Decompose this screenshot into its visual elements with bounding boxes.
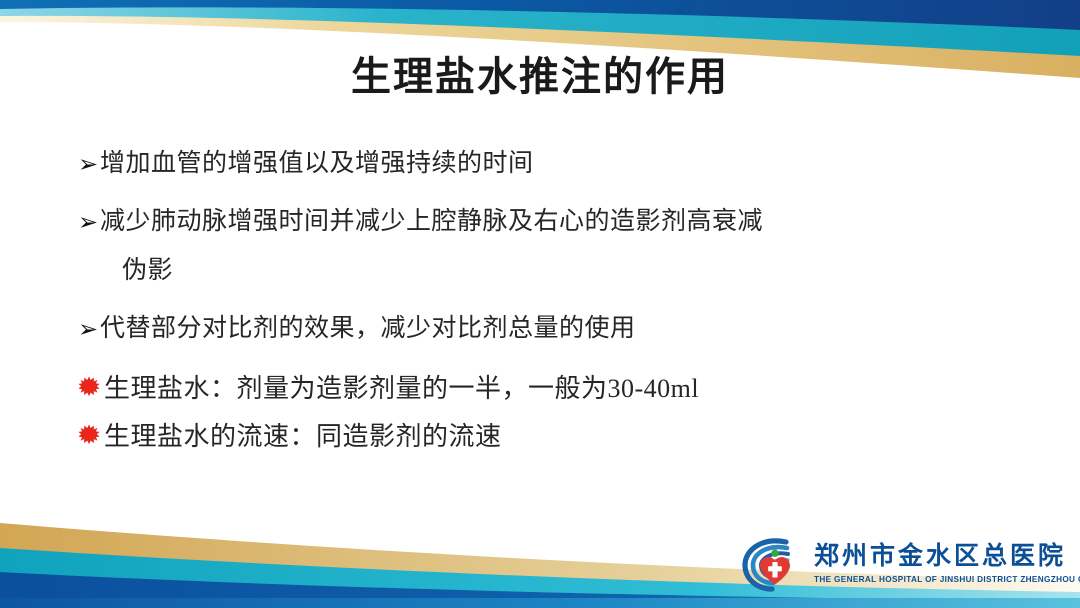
slide-canvas: 生理盐水推注的作用 ➢ 增加血管的增强值以及增强持续的时间 ➢ 减少肺动脉增强时… [0, 0, 1080, 608]
list-item: 生理盐水：剂量为造影剂量的一半，一般为30-40ml [78, 369, 1018, 409]
arrow-bullet-icon: ➢ [78, 146, 100, 182]
bullet-text-2-continuation: 伪影 [100, 253, 763, 289]
logo-name-en: THE GENERAL HOSPITAL OF JINSHUI DISTRICT… [814, 575, 1080, 584]
list-item: ➢ 减少肺动脉增强时间并减少上腔静脉及右心的造影剂高衰减 伪影 [78, 204, 1018, 289]
page-title: 生理盐水推注的作用 [0, 54, 1080, 100]
logo-text-block: 郑州市金水区总医院 THE GENERAL HOSPITAL OF JINSHU… [808, 544, 1080, 583]
hospital-logo: 郑州市金水区总医院 THE GENERAL HOSPITAL OF JINSHU… [742, 533, 1072, 595]
bullet-text-1: 增加血管的增强值以及增强持续的时间 [100, 146, 534, 182]
bullet-text-3: 代替部分对比剂的效果，减少对比剂总量的使用 [100, 311, 636, 347]
bullet-text-2-wrapper: 减少肺动脉增强时间并减少上腔静脉及右心的造影剂高衰减 伪影 [100, 204, 763, 289]
highlight-text-1: 生理盐水：剂量为造影剂量的一半，一般为30-40ml [104, 369, 699, 409]
slide-body: ➢ 增加血管的增强值以及增强持续的时间 ➢ 减少肺动脉增强时间并减少上腔静脉及右… [78, 146, 1018, 465]
starburst-bullet-icon [78, 369, 104, 405]
list-item: ➢ 增加血管的增强值以及增强持续的时间 [78, 146, 1018, 182]
list-item: ➢ 代替部分对比剂的效果，减少对比剂总量的使用 [78, 311, 1018, 347]
list-item: 生理盐水的流速：同造影剂的流速 [78, 417, 1018, 457]
arrow-bullet-icon: ➢ [78, 311, 100, 347]
swirl-heart-cross-icon [742, 536, 808, 592]
slide-title-container: 生理盐水推注的作用 [0, 54, 1080, 100]
starburst-bullet-icon [78, 417, 104, 453]
highlight-text-2: 生理盐水的流速：同造影剂的流速 [104, 417, 502, 457]
arrow-bullet-icon: ➢ [78, 204, 100, 240]
logo-name-cn: 郑州市金水区总医院 [814, 544, 1080, 570]
bullet-text-2: 减少肺动脉增强时间并减少上腔静脉及右心的造影剂高衰减 [100, 208, 763, 235]
